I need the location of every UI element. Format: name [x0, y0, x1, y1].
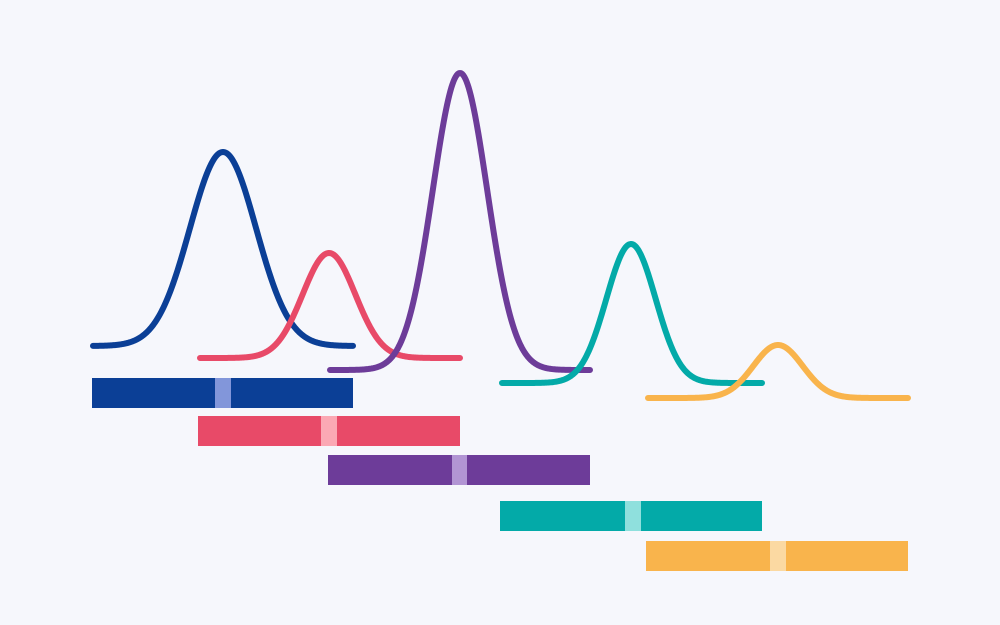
range-bar-1[interactable] — [92, 378, 353, 408]
range-bar-marker-3 — [452, 455, 467, 485]
chart-background — [0, 0, 1000, 625]
range-bar-marker-4 — [625, 501, 641, 531]
range-bar-3[interactable] — [328, 455, 590, 485]
figure-root — [0, 0, 1000, 625]
range-bar-5[interactable] — [646, 541, 908, 571]
range-bar-2[interactable] — [198, 416, 460, 446]
range-bar-4[interactable] — [500, 501, 762, 531]
range-bar-marker-2 — [321, 416, 337, 446]
peak-trace-chart — [0, 0, 1000, 625]
range-bar-marker-1 — [215, 378, 231, 408]
range-bar-marker-5 — [770, 541, 786, 571]
